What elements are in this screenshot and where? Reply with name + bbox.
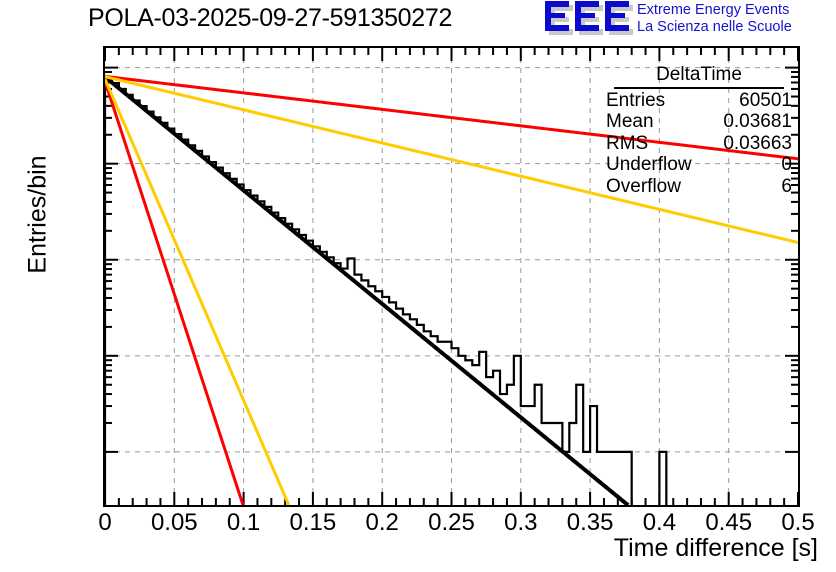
stats-row: Mean0.03681	[604, 111, 794, 133]
logo-e-bar	[605, 1, 611, 31]
stats-value: 0.03663	[723, 133, 792, 155]
stats-label: Entries	[606, 90, 665, 112]
logo-letter-e	[605, 1, 629, 31]
x-tick-label: 0.3	[504, 509, 537, 537]
stats-value: 0.03681	[723, 111, 792, 133]
eee-logo: Extreme Energy Events La Scienza nelle S…	[545, 1, 792, 35]
logo-e-bar	[575, 1, 581, 31]
stats-value: 0	[781, 154, 792, 176]
stats-value: 6	[781, 176, 792, 198]
logo-line-2: La Scienza nelle Scuole	[637, 19, 792, 36]
x-tick-label: 0	[98, 509, 111, 537]
stats-rows: Entries60501Mean0.03681RMS0.03663Underfl…	[604, 90, 794, 198]
eee-logo-text: Extreme Energy Events La Scienza nelle S…	[637, 1, 792, 35]
histogram-outline	[105, 78, 666, 505]
stats-row: RMS0.03663	[604, 133, 794, 155]
stats-label: Underflow	[606, 154, 692, 176]
x-axis-title: Time difference [s]	[614, 534, 818, 563]
stats-row: Entries60501	[604, 90, 794, 112]
stats-row: Underflow0	[604, 154, 794, 176]
x-tick-label: 0.05	[151, 509, 198, 537]
fit-main	[105, 77, 628, 505]
logo-letter-e	[545, 1, 569, 31]
stats-label: RMS	[606, 133, 648, 155]
x-tick-label: 0.4	[643, 509, 676, 537]
x-tick-label: 0.25	[428, 509, 475, 537]
x-tick-label: 0.5	[781, 509, 814, 537]
page-title: POLA-03-2025-09-27-591350272	[88, 4, 452, 33]
x-tick-label: 0.15	[290, 509, 337, 537]
stats-value: 60501	[739, 90, 792, 112]
x-tick-label: 0.35	[567, 509, 614, 537]
fit-fast-yellow	[105, 79, 289, 505]
stats-box: DeltaTime Entries60501Mean0.03681RMS0.03…	[604, 64, 794, 197]
logo-line-1: Extreme Energy Events	[637, 2, 792, 19]
eee-logo-mark	[545, 1, 631, 34]
x-tick-label: 0.1	[227, 509, 260, 537]
logo-letter-e	[575, 1, 599, 31]
logo-e-bar	[545, 1, 551, 31]
x-tick-label: 0.45	[705, 509, 752, 537]
x-tick-label: 0.2	[366, 509, 399, 537]
stats-label: Mean	[606, 111, 654, 133]
y-axis-tick-labels: 110102103104	[0, 0, 96, 572]
stats-row: Overflow6	[604, 176, 794, 198]
stats-title: DeltaTime	[614, 64, 784, 89]
stats-label: Overflow	[606, 176, 681, 198]
